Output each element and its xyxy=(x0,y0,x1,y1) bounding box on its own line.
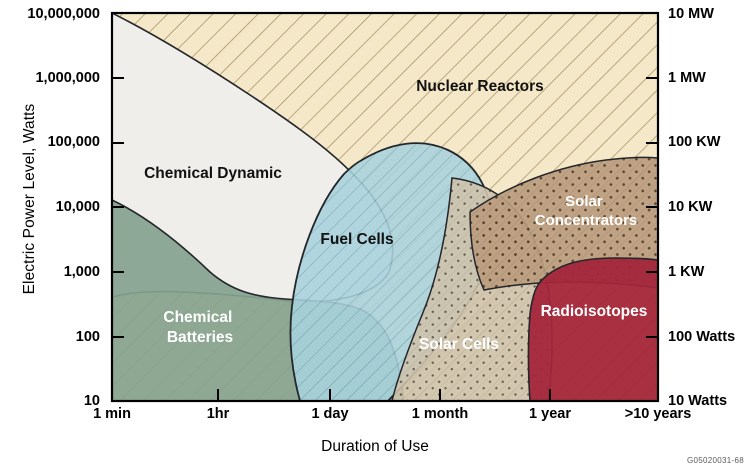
region-label-radioisotopes: Radioisotopes xyxy=(541,303,648,320)
region-label-nuclear-reactors: Nuclear Reactors xyxy=(416,78,544,95)
chart-plot-svg: Nuclear Reactors Chemical Dynamic Fuel C… xyxy=(0,0,750,474)
region-label-fuel-cells: Fuel Cells xyxy=(320,231,393,248)
region-radioisotopes xyxy=(529,258,659,401)
region-label-solar-cells: Solar Cells xyxy=(419,336,499,353)
region-label-chemical-dynamic: Chemical Dynamic xyxy=(144,165,282,182)
power-vs-duration-chart: Electric Power Level, Watts 10,000,000 1… xyxy=(0,0,750,474)
